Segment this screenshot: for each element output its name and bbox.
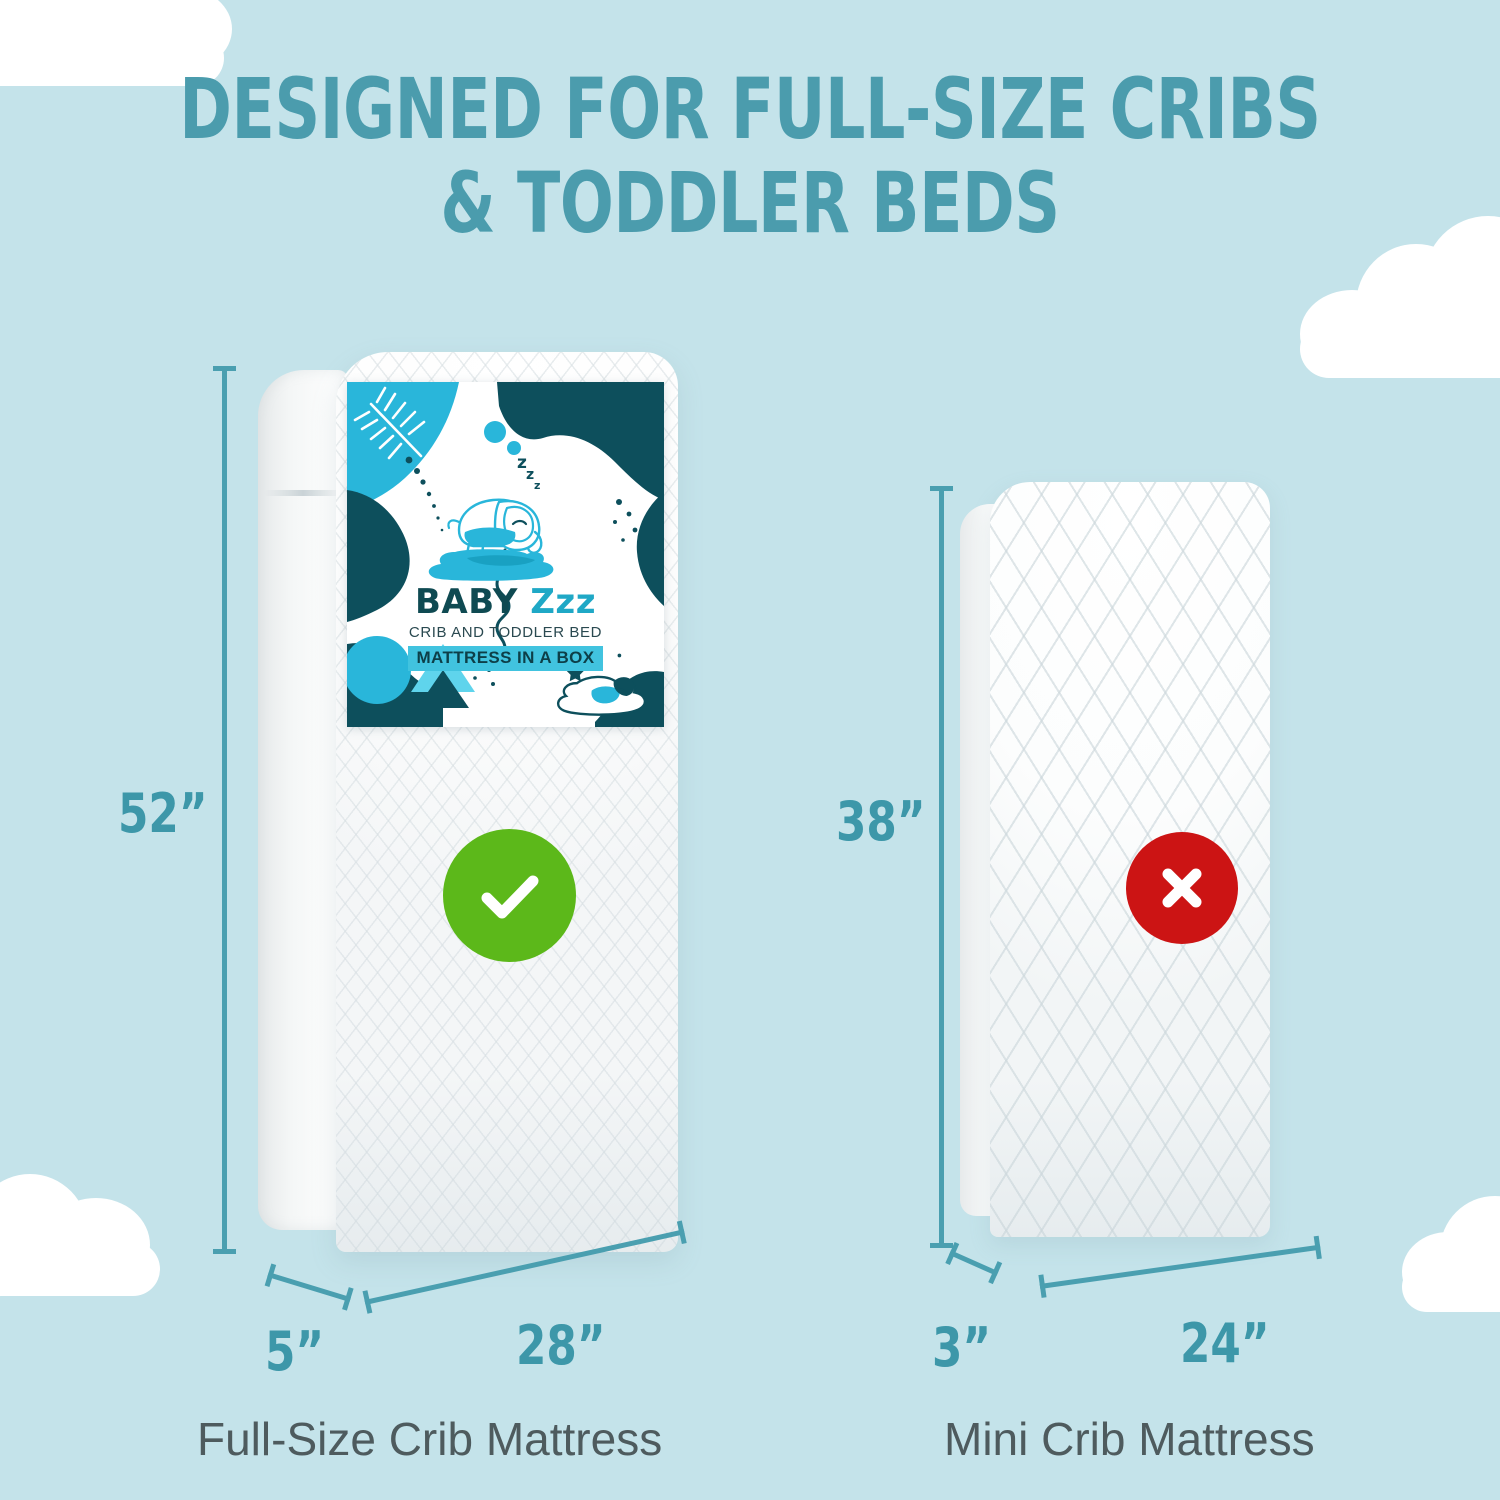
label-brand-main: BABY <box>415 582 518 622</box>
label-banner: MATTRESS IN A BOX <box>408 646 602 671</box>
label-subtitle: CRIB AND TODDLER BED <box>347 624 664 641</box>
product-label: z z z <box>347 382 664 727</box>
approved-badge <box>443 829 576 962</box>
mini-caption: Mini Crib Mattress <box>944 1412 1315 1466</box>
label-artwork: z z z <box>347 382 664 727</box>
mini-depth-label: 3” <box>932 1316 991 1379</box>
mini-depth-line <box>949 1250 999 1276</box>
label-brand-accent: Zzz <box>530 582 596 622</box>
full-size-depth-label: 5” <box>265 1320 324 1383</box>
full-size-mattress-side-panel <box>258 370 348 1230</box>
full-size-height-line <box>222 366 227 1254</box>
product-comparison-stage: z z z <box>0 0 1500 1500</box>
svg-text:z: z <box>534 479 540 492</box>
full-size-caption: Full-Size Crib Mattress <box>197 1412 662 1466</box>
svg-text:z: z <box>526 467 534 483</box>
check-icon <box>471 857 549 935</box>
rejected-badge <box>1126 832 1238 944</box>
x-icon <box>1151 857 1213 919</box>
full-size-depth-line <box>267 1272 351 1302</box>
mini-height-line <box>939 486 944 1248</box>
label-brand-title: BABY Zzz <box>347 582 664 622</box>
full-size-height-label: 52” <box>118 782 208 845</box>
full-size-width-label: 28” <box>516 1314 606 1377</box>
mini-height-label: 38” <box>836 790 926 853</box>
label-text-block: BABY Zzz CRIB AND TODDLER BED MATTRESS I… <box>347 582 664 671</box>
mini-width-label: 24” <box>1180 1312 1270 1375</box>
mini-width-line <box>1040 1245 1321 1289</box>
